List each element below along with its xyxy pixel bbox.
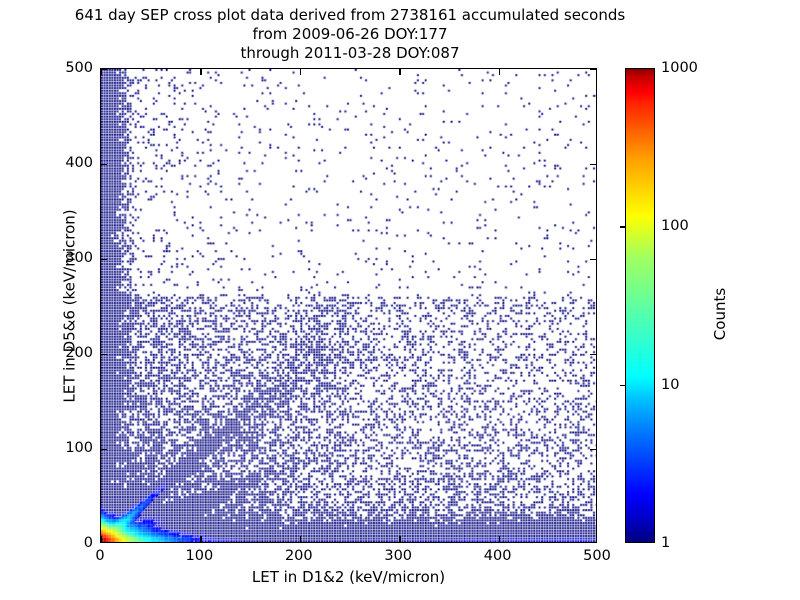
chart-title-line-1: 641 day SEP cross plot data derived from…: [0, 6, 700, 25]
colorbar-title: Counts: [711, 194, 729, 434]
chart-title: 641 day SEP cross plot data derived from…: [0, 6, 700, 63]
x-axis-title: LET in D1&2 (keV/micron): [100, 568, 597, 586]
figure-canvas: 641 day SEP cross plot data derived from…: [0, 0, 800, 600]
y-tick-right-100: [590, 449, 596, 450]
y-tick-label-0: 0: [84, 535, 93, 551]
x-tick-label-0: 0: [95, 548, 104, 564]
y-tick-400: [101, 164, 107, 165]
y-tick-right-200: [590, 354, 596, 355]
y-tick-right-500: [590, 69, 596, 70]
y-tick-200: [101, 354, 107, 355]
y-axis-title: LET in D5&6 (keV/micron): [61, 69, 79, 544]
colorbar-tick-label-1: 1: [661, 535, 670, 551]
chart-title-line-3: through 2011-03-28 DOY:087: [0, 44, 700, 63]
colorbar-tick-label-1000: 1000: [661, 60, 698, 76]
x-tick-top-100: [200, 69, 201, 75]
y-tick-500: [101, 69, 107, 70]
x-tick-100: [200, 536, 201, 542]
y-tick-300: [101, 259, 107, 260]
chart-title-line-2: from 2009-06-26 DOY:177: [0, 25, 700, 44]
colorbar[interactable]: 1101001000: [625, 68, 655, 543]
x-tick-label-400: 400: [484, 548, 512, 564]
colorbar-tick-label-10: 10: [661, 377, 679, 393]
x-tick-top-300: [399, 69, 400, 75]
x-tick-top-400: [499, 69, 500, 75]
y-tick-right-400: [590, 164, 596, 165]
x-tick-0: [101, 536, 102, 542]
scatter-plot-area[interactable]: [100, 68, 597, 543]
colorbar-gradient: [625, 68, 655, 543]
x-tick-400: [499, 536, 500, 542]
colorbar-tick-100: [620, 226, 625, 227]
scatter-points-layer: [101, 69, 596, 542]
x-tick-300: [399, 536, 400, 542]
y-tick-right-300: [590, 259, 596, 260]
x-tick-200: [300, 536, 301, 542]
x-tick-label-100: 100: [186, 548, 214, 564]
colorbar-tick-10: [620, 385, 625, 386]
x-tick-label-300: 300: [384, 548, 412, 564]
colorbar-tick-label-100: 100: [661, 218, 689, 234]
y-tick-100: [101, 449, 107, 450]
x-tick-top-200: [300, 69, 301, 75]
x-tick-label-500: 500: [583, 548, 611, 564]
x-tick-label-200: 200: [285, 548, 313, 564]
